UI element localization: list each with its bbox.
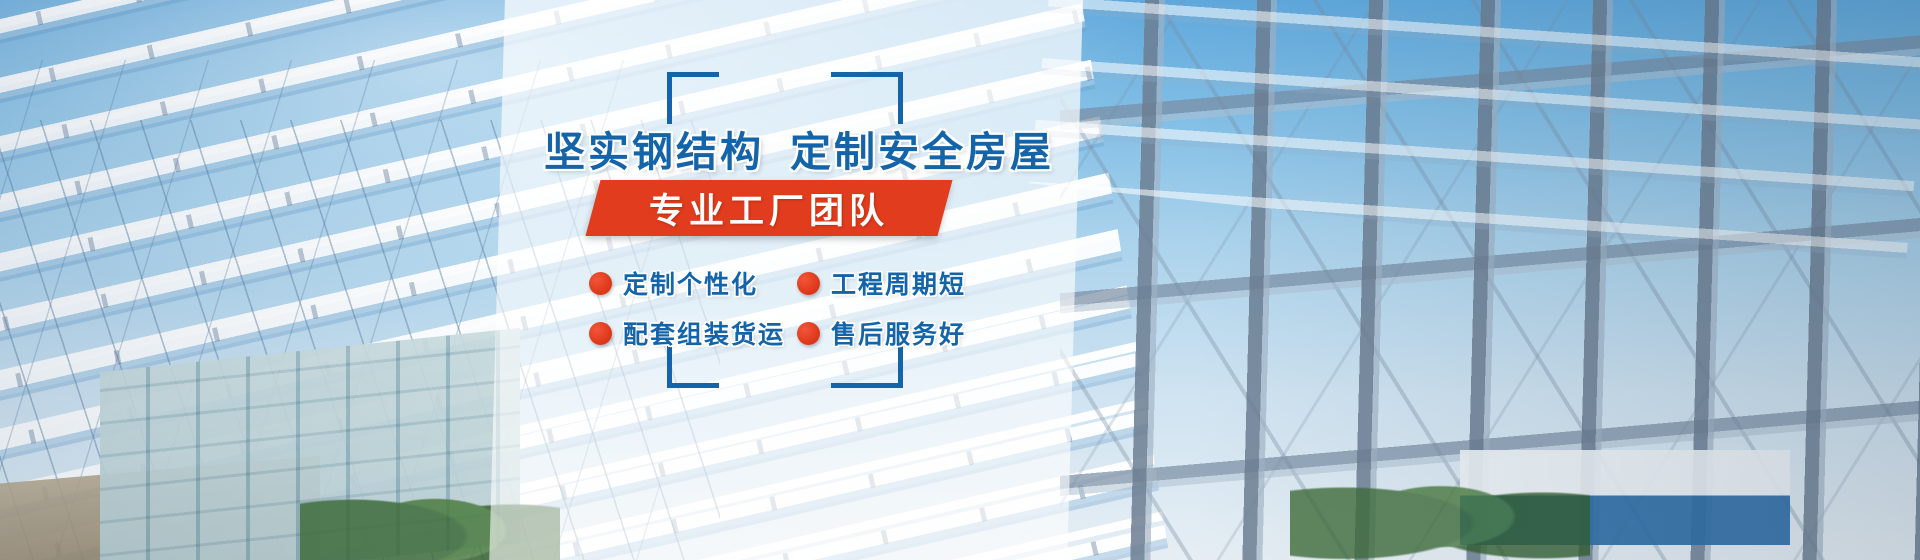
- headline: 坚实钢结构定制安全房屋: [525, 118, 1073, 178]
- bullet-dot-icon: [797, 272, 820, 295]
- bullet-label: 配套组装货运: [623, 315, 785, 351]
- bullet-dot-icon: [797, 322, 820, 345]
- feature-bullet-list: 定制个性化 工程周期短 配套组装货运 售后服务好: [589, 258, 1009, 358]
- bullet-label: 工程周期短: [831, 265, 966, 301]
- bullet-dot-icon: [589, 272, 612, 295]
- bullet-label: 售后服务好: [831, 315, 966, 351]
- ribbon-label: 专业工厂团队: [593, 180, 945, 236]
- bullet-dot-icon: [589, 322, 612, 345]
- list-item: 售后服务好: [797, 315, 1009, 351]
- promo-banner: 坚实钢结构定制安全房屋 专业工厂团队 定制个性化 工程周期短 配套组装货运 售后…: [0, 0, 1920, 560]
- headline-part-1: 坚实钢结构: [544, 128, 764, 176]
- bracket-top-left-icon: [667, 72, 719, 124]
- list-item: 配套组装货运: [589, 315, 797, 351]
- list-item: 定制个性化: [589, 265, 797, 301]
- list-item: 工程周期短: [797, 265, 1009, 301]
- bracket-top-right-icon: [831, 72, 903, 124]
- banner-content: 坚实钢结构定制安全房屋 专业工厂团队 定制个性化 工程周期短 配套组装货运 售后…: [497, 0, 1087, 560]
- bullet-label: 定制个性化: [623, 265, 758, 301]
- headline-part-2: 定制安全房屋: [790, 128, 1054, 176]
